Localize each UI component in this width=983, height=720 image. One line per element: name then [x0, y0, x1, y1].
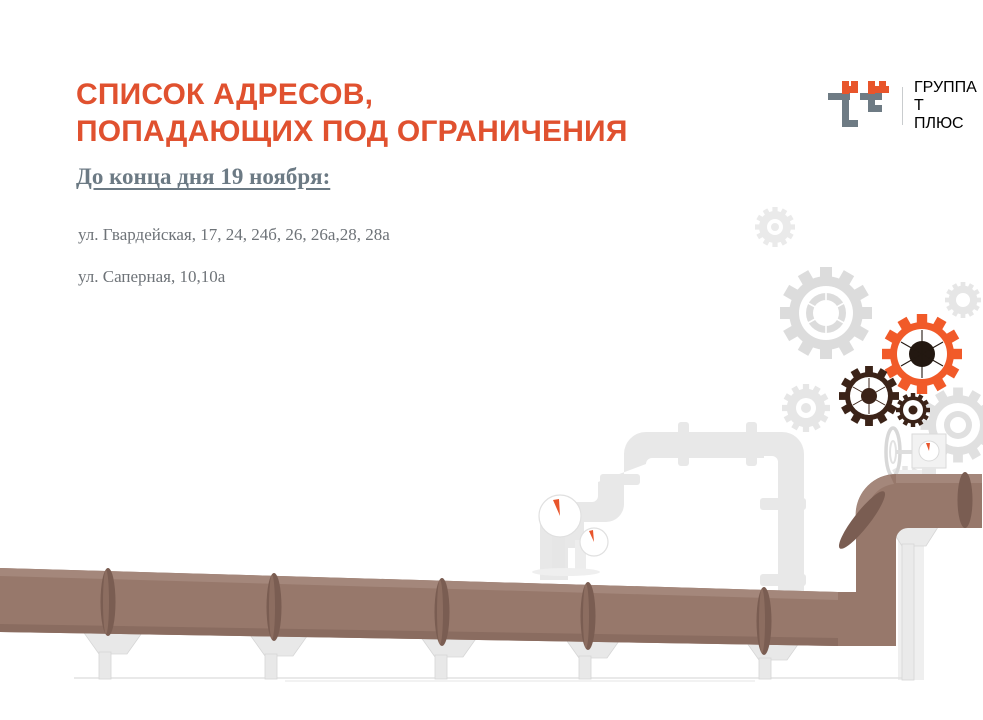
gauge-stand — [532, 534, 600, 576]
address-list: ул. Гвардейская, 17, 24, 24б, 26, 26а,28… — [78, 224, 678, 308]
ghost-gear-lower-mid — [782, 384, 830, 432]
list-item: ул. Саперная, 10,10а — [78, 266, 678, 288]
gear-orange — [882, 314, 962, 394]
ghost-pipe-network — [540, 422, 806, 620]
title-line-2: ПОПАДАЮЩИХ ПОД ОГРАНИЧЕНИЯ — [76, 113, 736, 150]
ghost-gear-large — [780, 267, 872, 359]
ghost-post-right — [898, 470, 924, 680]
main-pipe — [0, 474, 982, 646]
pipe-collars — [101, 472, 973, 655]
logo-divider — [902, 87, 903, 125]
ghost-gear-right-small — [945, 282, 981, 318]
gauge-small — [580, 528, 608, 556]
brand-logo: ГРУППА Т ПЛЮС — [828, 78, 968, 134]
ghost-gear-top-small — [755, 207, 795, 247]
title-line-1: СПИСОК АДРЕСОВ, — [76, 76, 736, 113]
ghost-gear-lower-right — [921, 388, 983, 463]
subtitle-deadline: До конца дня 19 ноября: — [76, 163, 330, 191]
page-title: СПИСОК АДРЕСОВ, ПОПАДАЮЩИХ ПОД ОГРАНИЧЕН… — [76, 76, 736, 150]
logo-text: ГРУППА Т ПЛЮС — [914, 79, 977, 133]
gauge-large — [539, 495, 581, 537]
ghost-gear-bottom-right — [884, 466, 926, 508]
slide-canvas: СПИСОК АДРЕСОВ, ПОПАДАЮЩИХ ПОД ОГРАНИЧЕН… — [0, 0, 983, 720]
gear-dark-brown — [839, 366, 899, 426]
pipe-supports — [82, 524, 940, 680]
valve-handwheel — [886, 428, 914, 476]
logo-text-line-1: ГРУППА — [914, 79, 977, 97]
list-item: ул. Гвардейская, 17, 24, 24б, 26, 26а,28… — [78, 224, 678, 246]
gear-dark-small — [896, 393, 930, 427]
logo-text-line-2: Т ПЛЮС — [914, 97, 977, 133]
t-plus-logo-mark — [828, 81, 890, 131]
ground-line — [74, 678, 910, 681]
pipe-collar-highlights — [103, 570, 765, 653]
gauge-box — [912, 434, 946, 482]
